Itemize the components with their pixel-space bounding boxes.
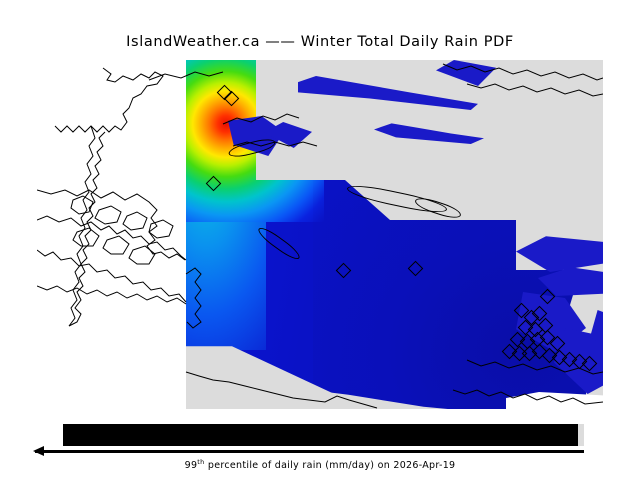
colorbar[interactable] — [63, 424, 584, 446]
figure-root: IslandWeather.ca —— Winter Total Daily R… — [0, 0, 640, 480]
caption-percentile-number: 99 — [185, 460, 198, 471]
colorbar-fill — [63, 424, 578, 446]
caption-rest: percentile of daily rain (mm/day) on 202… — [205, 460, 456, 471]
coastline-overlay — [37, 60, 603, 409]
colorbar-left-arrow-icon — [33, 446, 44, 456]
caption-percentile-suffix: th — [197, 458, 204, 466]
colorbar-axis — [35, 450, 584, 453]
page-title: IslandWeather.ca —— Winter Total Daily R… — [0, 34, 640, 50]
map-panel[interactable] — [37, 60, 603, 409]
colorbar-end-cap — [578, 424, 584, 446]
figure-caption: 99th percentile of daily rain (mm/day) o… — [0, 458, 640, 471]
